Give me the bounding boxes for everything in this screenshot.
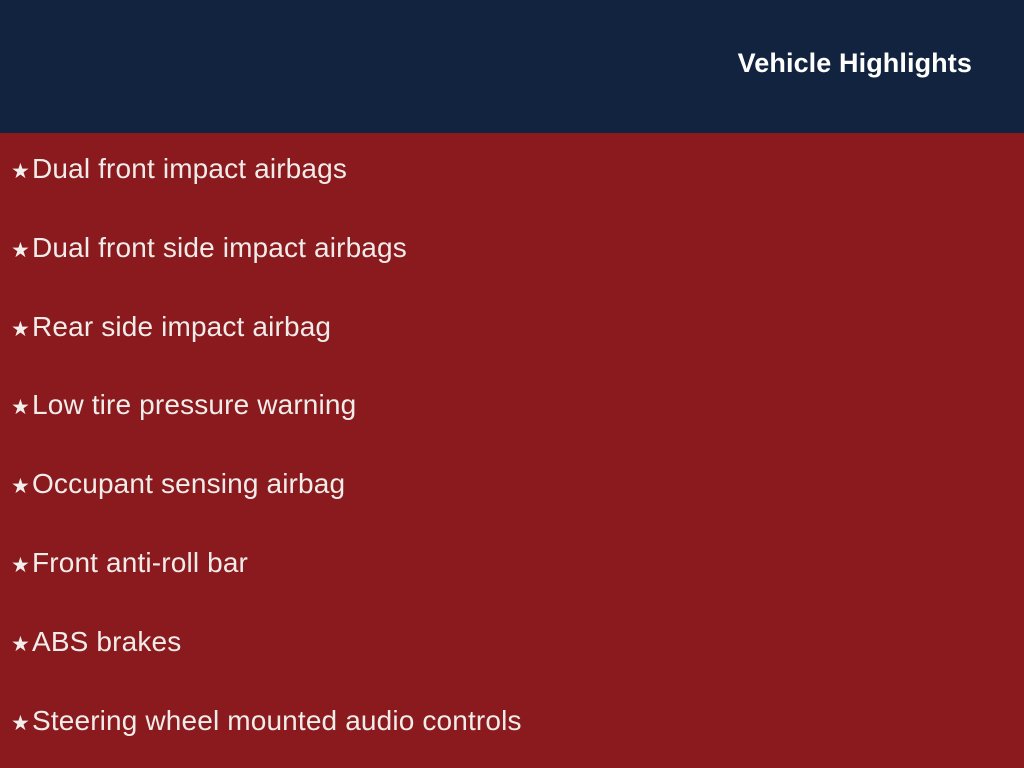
list-item-label: Occupant sensing airbag bbox=[32, 470, 345, 498]
list-item: ★Dual front side impact airbags bbox=[0, 234, 407, 274]
list-item-label: Low tire pressure warning bbox=[32, 391, 356, 419]
list-item: ★Front anti-roll bar bbox=[0, 549, 248, 589]
list-item-label: Dual front impact airbags bbox=[32, 155, 347, 183]
list-item: ★Rear side impact airbag bbox=[0, 313, 331, 353]
list-item-label: Dual front side impact airbags bbox=[32, 234, 407, 262]
list-item: ★Steering wheel mounted audio controls bbox=[0, 707, 522, 747]
star-icon: ★ bbox=[0, 161, 32, 182]
star-icon: ★ bbox=[0, 319, 32, 340]
list-item-label: Front anti-roll bar bbox=[32, 549, 248, 577]
star-icon: ★ bbox=[0, 476, 32, 497]
star-icon: ★ bbox=[0, 397, 32, 418]
list-item-label: ABS brakes bbox=[32, 628, 181, 656]
slide-canvas: Vehicle Highlights ★Dual front impact ai… bbox=[0, 0, 1024, 768]
slide-content-area: ★Dual front impact airbags★Dual front si… bbox=[0, 133, 1024, 768]
list-item: ★Dual front impact airbags bbox=[0, 155, 347, 195]
list-item-label: Rear side impact airbag bbox=[32, 313, 331, 341]
star-icon: ★ bbox=[0, 713, 32, 734]
list-item-label: Steering wheel mounted audio controls bbox=[32, 707, 522, 735]
star-icon: ★ bbox=[0, 634, 32, 655]
page-title: Vehicle Highlights bbox=[738, 0, 1024, 77]
list-item: ★ABS brakes bbox=[0, 628, 181, 668]
list-item: ★Low tire pressure warning bbox=[0, 391, 356, 431]
list-item: ★Occupant sensing airbag bbox=[0, 470, 345, 510]
slide-header-bar: Vehicle Highlights bbox=[0, 0, 1024, 133]
star-icon: ★ bbox=[0, 240, 32, 261]
star-icon: ★ bbox=[0, 555, 32, 576]
